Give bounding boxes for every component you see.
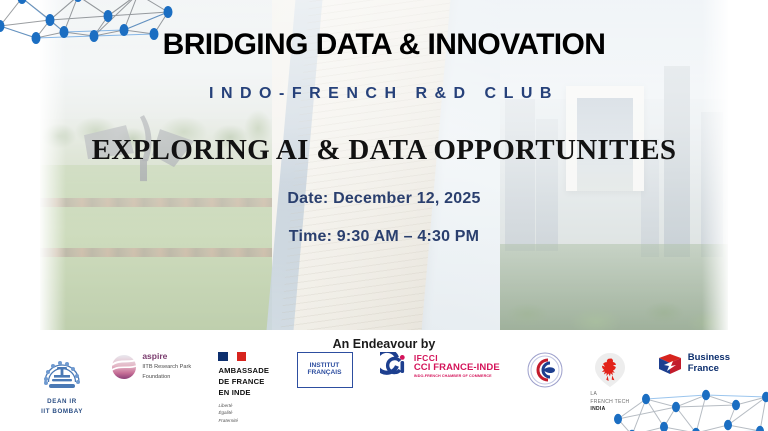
partner-logo-strip: DEAN IR IIT BOMBAY as (40, 352, 730, 424)
logo-iit-bombay: DEAN IR IIT BOMBAY (40, 352, 84, 416)
ifcci-line-3: INDO-FRENCH CHAMBER OF COMMERCE (414, 374, 500, 378)
event-date: Date: December 12, 2025 (0, 190, 768, 208)
logo-ifcci: IFCCI CCI FRANCE-INDE INDO-FRENCH CHAMBE… (380, 352, 500, 380)
ambassade-line-3: EN INDE (218, 387, 269, 398)
business-france-line-2: France (688, 364, 730, 375)
institut-francais-icon: INSTITUT FRANÇAIS (297, 352, 353, 388)
motto-line-2: Égalité (218, 409, 238, 416)
poster-subtitle: INDO-FRENCH R&D CLUB (0, 85, 768, 103)
ambassade-line-2: DE FRANCE (218, 376, 269, 387)
logo-institut-francais: INSTITUT FRANÇAIS (297, 352, 353, 388)
ifcci-line-1: IFCCI (414, 354, 500, 363)
logo-business-france: Business France (657, 352, 730, 376)
ambassade-motto: Liberté Égalité Fraternité (218, 402, 238, 424)
aspire-sub-line-1: IITB Research Park (142, 363, 191, 371)
event-time: Time: 9:30 AM – 4:30 PM (0, 228, 768, 246)
page-title: BRIDGING DATA & INNOVATION (0, 28, 768, 62)
flag-band-blue (218, 352, 227, 361)
business-france-icon (657, 352, 683, 376)
aspire-logo-icon (111, 354, 137, 380)
aspire-text: aspire IITB Research Park Foundation (142, 352, 191, 381)
poster-tagline: EXPLORING AI & DATA OPPORTUNITIES (0, 134, 768, 167)
logo-aspire: aspire IITB Research Park Foundation (111, 352, 191, 381)
aspire-name: aspire (142, 352, 191, 361)
ifcci-logo-icon (380, 352, 410, 380)
institut-line-2: FRANÇAIS (307, 370, 341, 377)
cefipra-logo-icon (527, 352, 563, 388)
institut-francais-text: INSTITUT FRANÇAIS (307, 363, 341, 377)
logo-la-french-tech-india: LA FRENCH TECH INDIA (590, 352, 629, 414)
motto-line-3: Fraternité (218, 417, 238, 424)
french-tech-text: LA FRENCH TECH INDIA (590, 391, 629, 414)
iit-bombay-emblem-icon (40, 352, 84, 392)
aspire-sub-line-2: Foundation (142, 373, 191, 381)
event-poster: BRIDGING DATA & INNOVATION INDO-FRENCH R… (0, 0, 768, 431)
flag-band-red (237, 352, 246, 361)
french-tech-line-2: FRENCH TECH (590, 399, 629, 407)
iitb-caption-line-1: DEAN IR (41, 397, 83, 407)
motto-line-1: Liberté (218, 402, 238, 409)
ambassade-line-1: AMBASSADE (218, 365, 269, 376)
french-tech-line-3: INDIA (590, 406, 629, 414)
ambassade-text: AMBASSADE DE FRANCE EN INDE (218, 365, 269, 398)
logo-ambassade-de-france: AMBASSADE DE FRANCE EN INDE Liberté Égal… (218, 352, 269, 424)
french-tech-line-1: LA (590, 391, 629, 399)
iitb-caption-line-2: IIT BOMBAY (41, 407, 83, 417)
ifcci-text: IFCCI CCI FRANCE-INDE INDO-FRENCH CHAMBE… (414, 354, 500, 379)
french-tech-rooster-icon (594, 352, 626, 388)
logo-cefipra (527, 352, 563, 388)
ifcci-line-2: CCI FRANCE-INDE (414, 363, 500, 373)
french-flag-icon (218, 352, 246, 361)
flag-band-white (228, 352, 237, 361)
endeavour-label: An Endeavour by (0, 337, 768, 351)
iit-bombay-caption: DEAN IR IIT BOMBAY (41, 397, 83, 416)
business-france-text: Business France (688, 353, 730, 374)
